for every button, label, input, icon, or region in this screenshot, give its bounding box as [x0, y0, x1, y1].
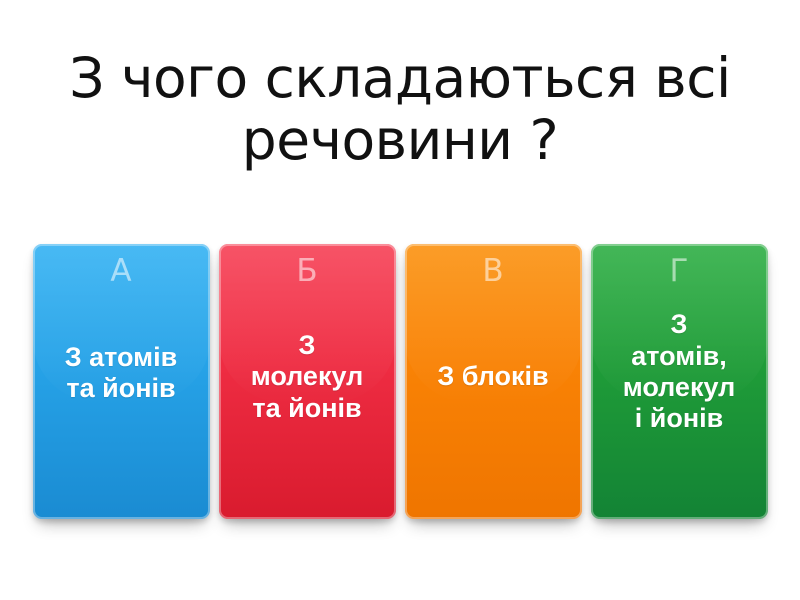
answer-text-c: З блоків [437, 361, 548, 392]
answer-text-a: З атомів та йонів [65, 342, 178, 405]
answer-card-d[interactable]: Г З атомів, молекул і йонів [591, 244, 768, 519]
quiz-stage: З чого складаються всі речовини ? А З ат… [0, 0, 800, 600]
answer-card-b[interactable]: Б З молекул та йонів [219, 244, 396, 519]
answer-card-c[interactable]: В З блоків [405, 244, 582, 519]
answer-body-d: З атомів, молекул і йонів [599, 293, 760, 509]
answer-options-row: А З атомів та йонів Б З молекул та йонів… [0, 244, 800, 519]
answer-body-c: З блоків [413, 293, 574, 509]
question-text: З чого складаються всі речовини ? [50, 48, 750, 171]
answer-letter-b: Б [296, 256, 317, 287]
answer-letter-c: В [482, 256, 503, 287]
answer-letter-a: А [110, 256, 131, 287]
answer-text-b: З молекул та йонів [251, 330, 364, 424]
answer-letter-d: Г [670, 256, 689, 287]
answer-card-a[interactable]: А З атомів та йонів [33, 244, 210, 519]
answer-body-a: З атомів та йонів [41, 293, 202, 509]
answer-text-d: З атомів, молекул і йонів [623, 309, 736, 434]
question-area: З чого складаються всі речовини ? [20, 48, 780, 171]
answer-body-b: З молекул та йонів [227, 293, 388, 509]
